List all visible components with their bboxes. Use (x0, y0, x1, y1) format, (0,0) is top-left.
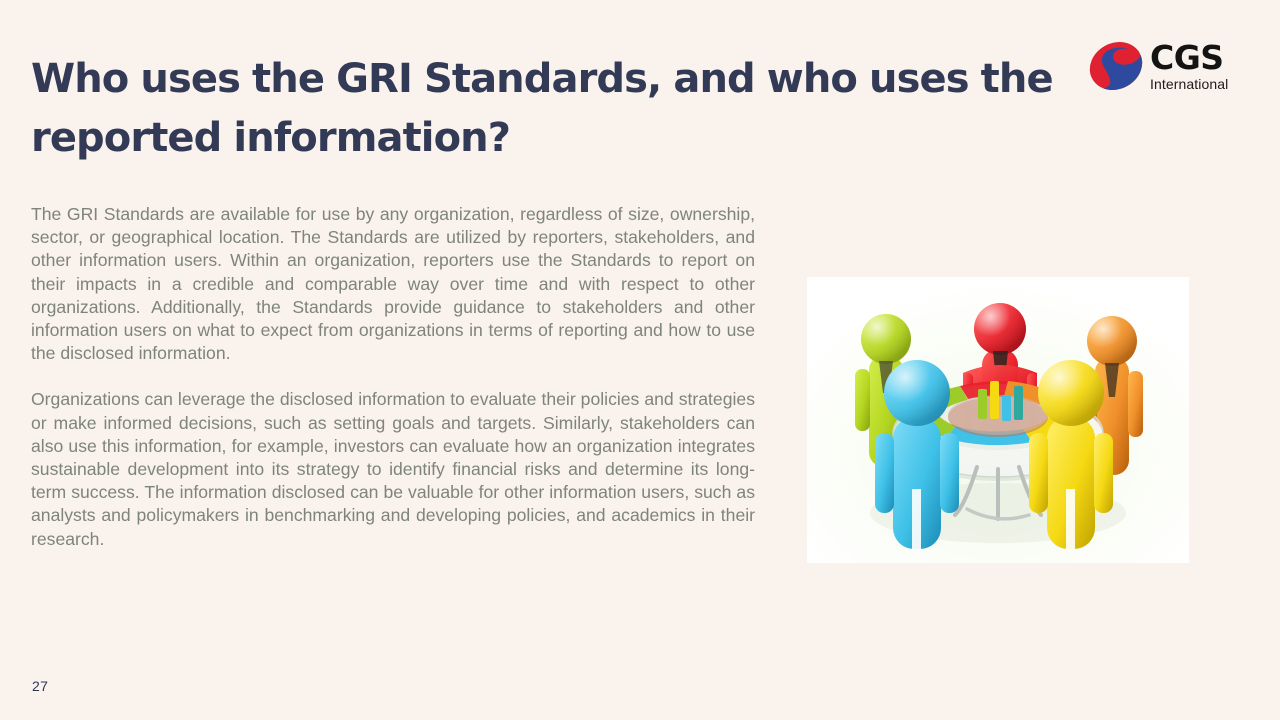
body-paragraph-1: The GRI Standards are available for use … (31, 203, 755, 365)
logo-subtitle-text: International (1150, 76, 1240, 92)
cgs-swirl-icon (1088, 42, 1144, 90)
stakeholders-around-table-image (807, 277, 1189, 563)
body-text-column: The GRI Standards are available for use … (31, 203, 755, 551)
body-paragraph-2: Organizations can leverage the disclosed… (31, 388, 755, 550)
slide: Who uses the GRI Standards, and who uses… (0, 0, 1280, 720)
page-title: Who uses the GRI Standards, and who uses… (31, 50, 1076, 168)
logo-wordmark: CGS International (1150, 40, 1240, 92)
logo-brand-text: CGS (1150, 40, 1240, 76)
page-number: 27 (32, 678, 48, 694)
cgs-international-logo: CGS International (1088, 40, 1238, 102)
